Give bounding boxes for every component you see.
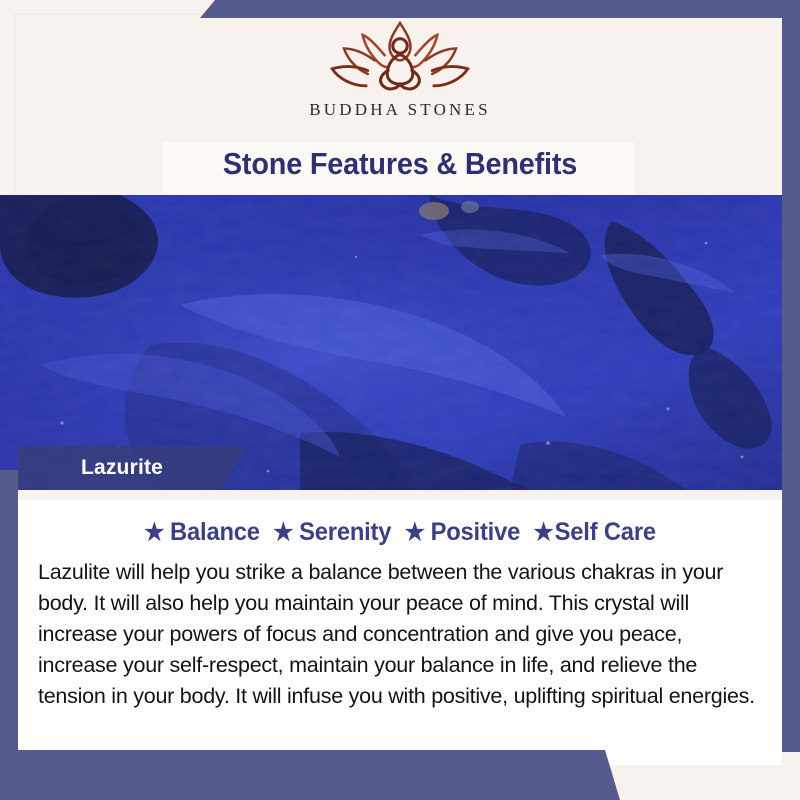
keyword-item-balance: ★ Balance [144, 518, 273, 547]
frame-accent-right [782, 0, 800, 752]
keyword-item-positive: ★ Positive [405, 518, 534, 547]
star-icon: ★ [144, 521, 164, 545]
content-panel: ★ Balance ★ Serenity ★ Positive ★ Self C… [18, 500, 782, 765]
panel-top-gutter [18, 490, 782, 500]
frame-accent-bottom [0, 750, 620, 800]
star-icon: ★ [533, 521, 553, 545]
brand-wordmark: BUDDHA STONES [309, 100, 491, 120]
star-icon: ★ [405, 521, 425, 545]
stone-name-banner: Lazurite [18, 446, 246, 490]
stone-name-label: Lazurite [18, 446, 226, 490]
star-icon: ★ [273, 521, 293, 545]
keyword-label: Self Care [555, 518, 656, 547]
frame-accent-left [0, 490, 18, 760]
keyword-list: ★ Balance ★ Serenity ★ Positive ★ Self C… [52, 518, 747, 547]
keyword-label: Positive [431, 518, 521, 547]
keyword-item-self-care: ★ Self Care [533, 518, 655, 547]
lotus-meditation-figure-icon [315, 18, 485, 96]
frame-accent-left-stub [0, 470, 18, 500]
brand-logo-block: BUDDHA STONES [0, 18, 800, 140]
description-paragraph: Lazulite will help you strike a balance … [34, 557, 766, 712]
keyword-label: Serenity [299, 518, 391, 547]
frame-accent-top [200, 0, 800, 18]
page-title: Stone Features & Benefits [28, 146, 772, 182]
keyword-label: Balance [170, 518, 260, 547]
keyword-item-serenity: ★ Serenity [273, 518, 404, 547]
